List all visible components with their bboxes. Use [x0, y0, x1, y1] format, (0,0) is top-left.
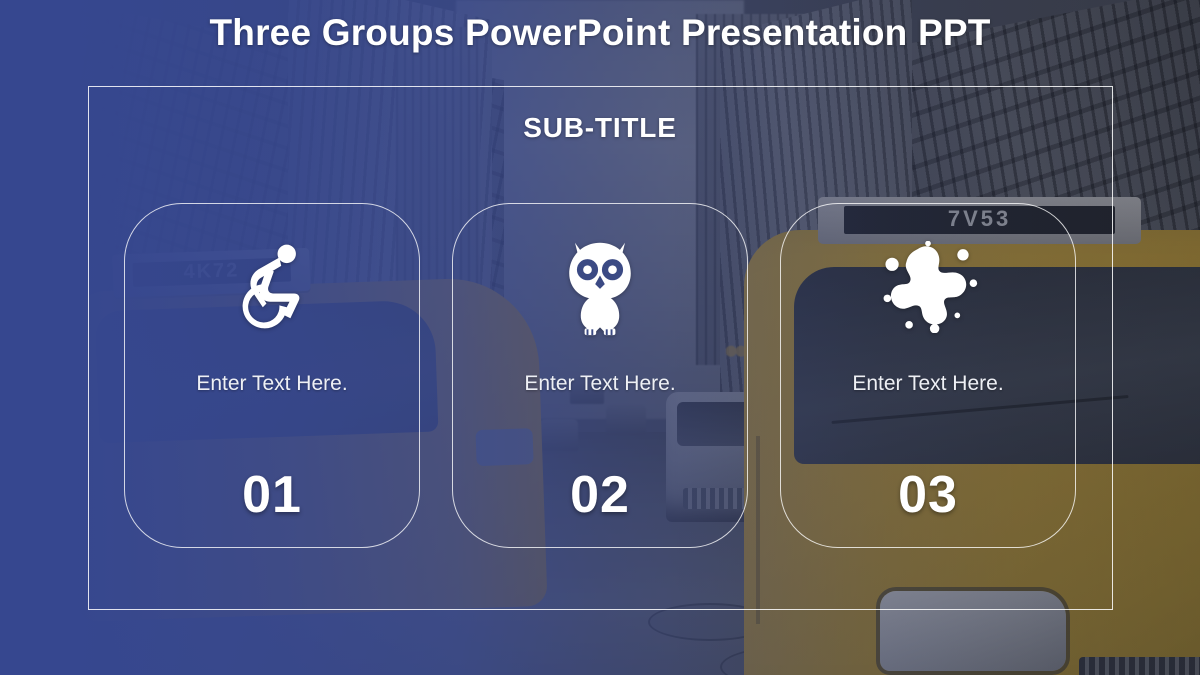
group-card-01[interactable]: Enter Text Here. 01 — [124, 203, 420, 548]
card-group: Enter Text Here. 01 — [124, 203, 1076, 548]
sub-title: SUB-TITLE — [0, 112, 1200, 144]
group-card-02-text: Enter Text Here. — [453, 372, 747, 396]
group-card-03-number: 03 — [781, 465, 1075, 525]
group-card-03[interactable]: Enter Text Here. 03 — [780, 203, 1076, 548]
page-title: Three Groups PowerPoint Presentation PPT — [0, 12, 1200, 54]
group-card-02-number: 02 — [453, 465, 747, 525]
owl-icon — [453, 232, 747, 342]
group-card-01-number: 01 — [125, 465, 419, 525]
slide-content: Three Groups PowerPoint Presentation PPT… — [0, 0, 1200, 675]
presentation-slide: 4K72 7V53 Three Groups PowerPoint Presen… — [0, 0, 1200, 675]
group-card-02[interactable]: Enter Text Here. 02 — [452, 203, 748, 548]
group-card-03-text: Enter Text Here. — [781, 372, 1075, 396]
accessible-wheelchair-icon — [125, 232, 419, 342]
paint-splatter-icon — [781, 232, 1075, 342]
group-card-01-text: Enter Text Here. — [125, 372, 419, 396]
